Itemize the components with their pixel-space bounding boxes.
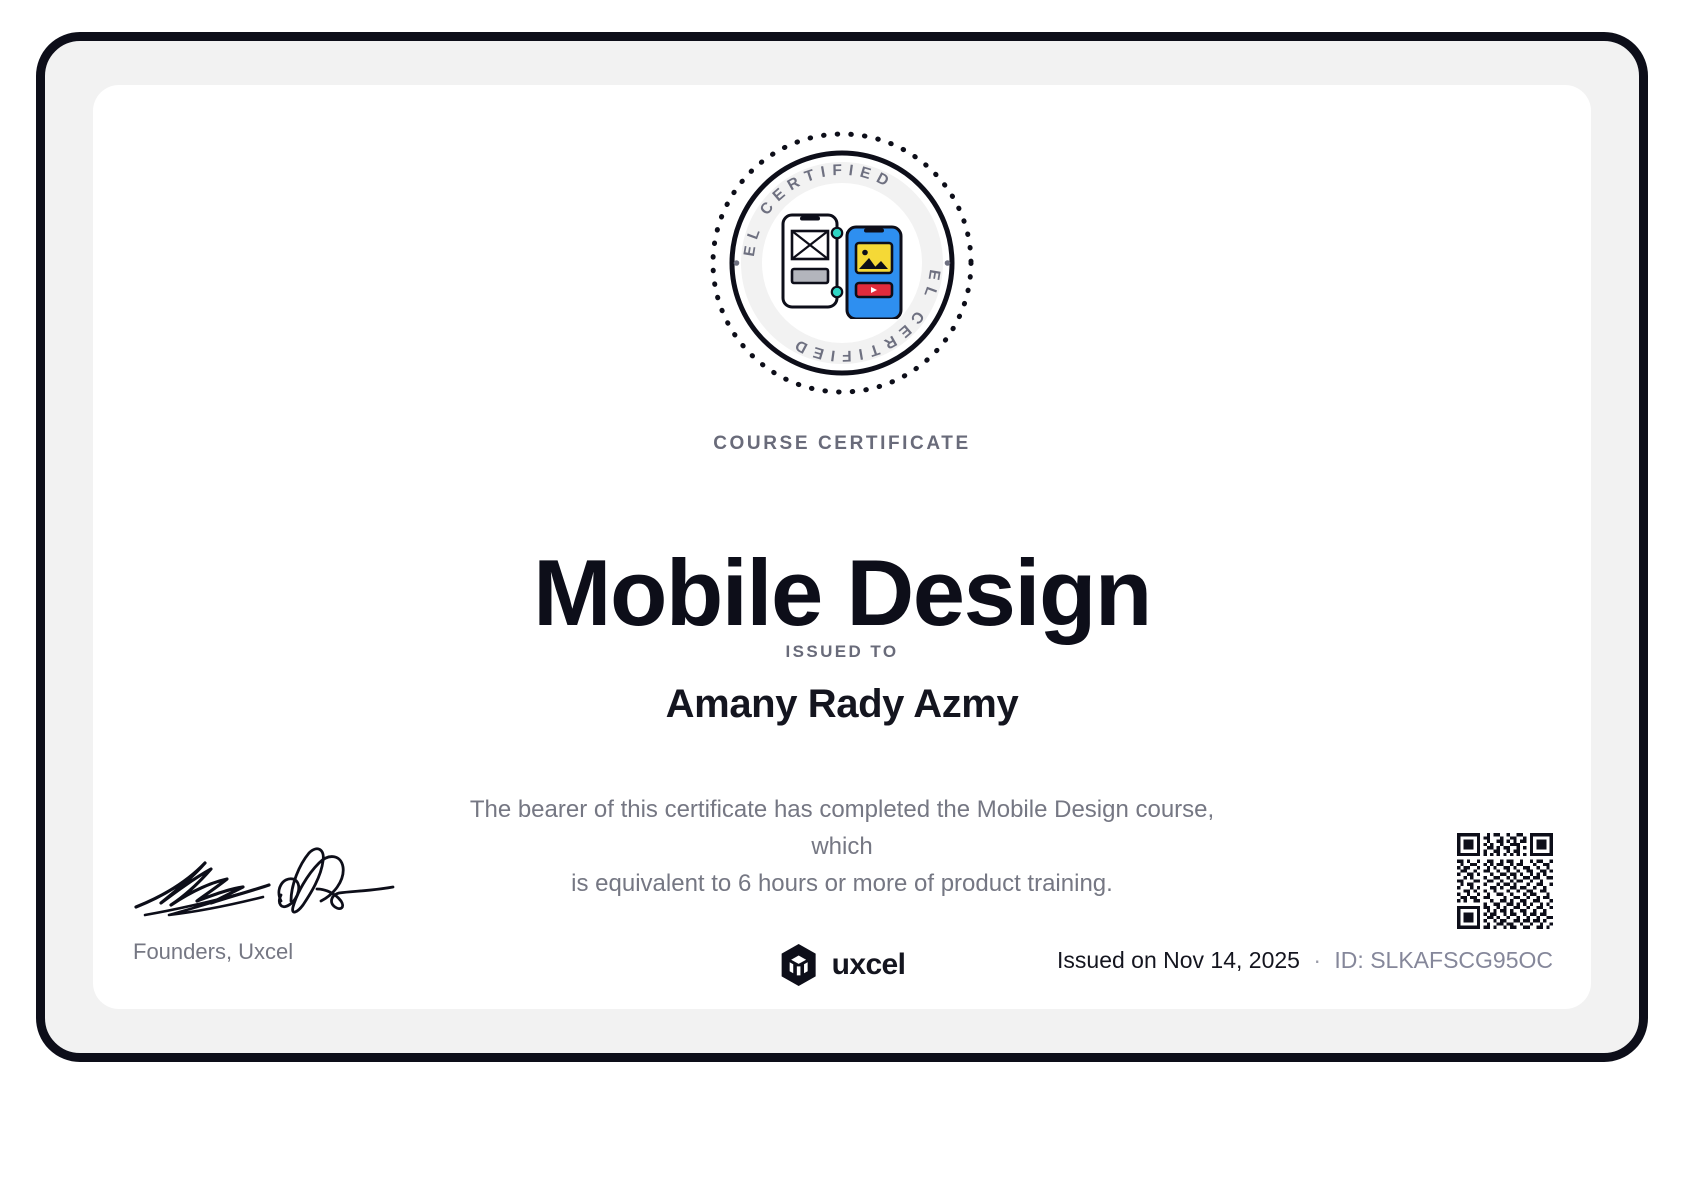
meta-separator: · (1306, 947, 1328, 973)
description-line-1: The bearer of this certificate has compl… (442, 791, 1242, 865)
signature-icon (131, 845, 421, 925)
uxcel-cube-logo-icon (779, 943, 819, 987)
uxcel-brand: uxcel (779, 943, 906, 987)
qr-code[interactable] (1457, 833, 1553, 929)
description-line-2: is equivalent to 6 hours or more of prod… (442, 865, 1242, 902)
signature-caption: Founders, Uxcel (131, 939, 431, 965)
qr-code-icon (1457, 833, 1553, 929)
mobile-design-icon (767, 207, 917, 319)
issued-on-text: Issued on Nov 14, 2025 (1057, 947, 1300, 973)
certificate-kicker: COURSE CERTIFICATE (93, 433, 1591, 455)
seal-illustration (767, 207, 917, 319)
certificate-seal: UXCEL CERTIFIED UXCEL CERTIFIED (706, 127, 978, 399)
certificate-meta: Issued on Nov 14, 2025 · ID: SLKAFSCG95O… (1057, 947, 1553, 974)
course-title: Mobile Design (93, 544, 1591, 643)
uxcel-wordmark: uxcel (832, 948, 906, 982)
certificate-frame: UXCEL CERTIFIED UXCEL CERTIFIED (36, 32, 1648, 1062)
certificate-description: The bearer of this certificate has compl… (442, 791, 1242, 903)
issued-to-label: ISSUED TO (93, 642, 1591, 662)
recipient-name: Amany Rady Azmy (93, 682, 1591, 727)
signature-block: Founders, Uxcel (131, 845, 431, 965)
certificate-id: ID: SLKAFSCG95OC (1334, 947, 1553, 973)
certificate-card: UXCEL CERTIFIED UXCEL CERTIFIED (93, 85, 1591, 1009)
